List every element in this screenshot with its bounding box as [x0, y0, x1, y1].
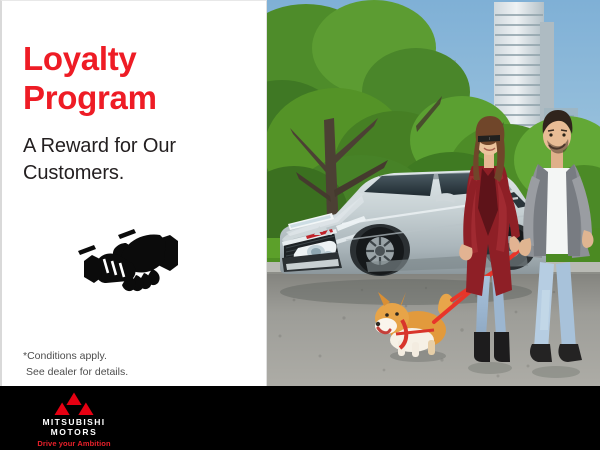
- lifestyle-photo-couple-walking-dog-with-suv: [266, 0, 600, 386]
- headline-line-2: Program: [23, 78, 253, 117]
- brand-wordmark-line-1: MITSUBISHI: [42, 417, 105, 427]
- page-title: Loyalty Program: [23, 39, 253, 118]
- disclaimer-line-2: See dealer for details.: [23, 365, 128, 381]
- headline-line-1: Loyalty: [23, 40, 136, 77]
- subheadline: A Reward for Our Customers.: [23, 133, 255, 187]
- copy-panel: Loyalty Program A Reward for Our Custome…: [0, 0, 267, 386]
- disclaimer-line-1: *Conditions apply.: [23, 350, 107, 362]
- mitsubishi-three-diamonds-logo: [18, 392, 130, 416]
- advertisement-banner: Loyalty Program A Reward for Our Custome…: [0, 0, 600, 450]
- disclaimer: *Conditions apply. See dealer for detail…: [23, 349, 128, 381]
- subheadline-line-2: Customers.: [23, 160, 255, 187]
- brand-logo: MITSUBISHI MOTORS Drive your Ambition: [18, 392, 130, 448]
- brand-tagline: Drive your Ambition: [18, 439, 130, 448]
- footer-bar: MITSUBISHI MOTORS Drive your Ambition: [0, 386, 600, 450]
- brand-wordmark-line-2: MOTORS: [18, 427, 130, 437]
- brand-wordmark: MITSUBISHI MOTORS: [18, 417, 130, 437]
- subheadline-line-1: A Reward for Our: [23, 135, 176, 157]
- handshake-icon: [74, 221, 184, 299]
